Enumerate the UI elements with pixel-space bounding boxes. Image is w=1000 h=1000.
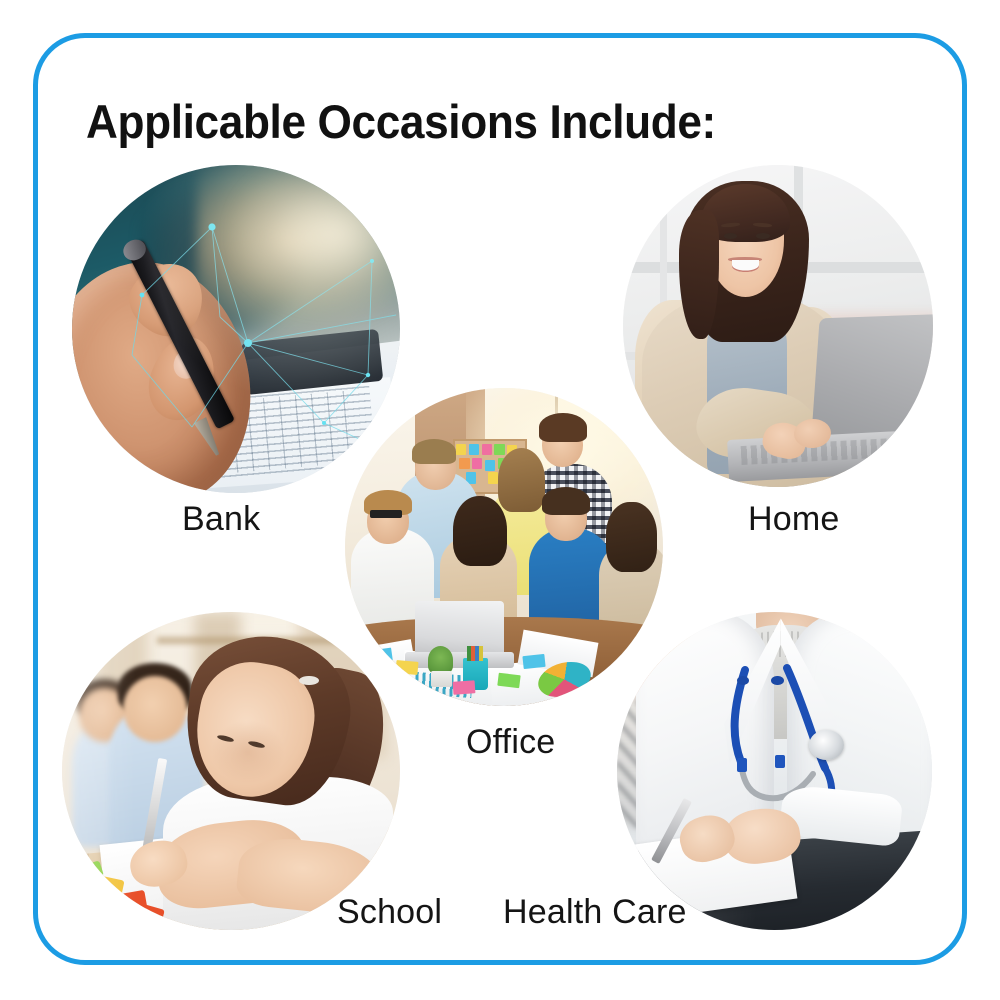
occasion-circle-home[interactable] [623, 165, 933, 487]
occasion-label-bank: Bank [182, 500, 260, 539]
occasion-circle-school[interactable] [62, 612, 400, 930]
health-care-scene-image [617, 612, 932, 930]
infographic-page: Applicable Occasions Include: [0, 0, 1000, 1000]
occasion-label-health-care: Health Care [503, 893, 687, 932]
page-title: Applicable Occasions Include: [86, 94, 716, 149]
home-scene-image [623, 165, 933, 487]
occasion-label-office: Office [466, 723, 555, 762]
occasion-label-school: School [337, 893, 442, 932]
school-scene-image [62, 612, 400, 930]
occasion-label-home: Home [748, 500, 840, 539]
occasion-circle-health-care[interactable] [617, 612, 932, 930]
